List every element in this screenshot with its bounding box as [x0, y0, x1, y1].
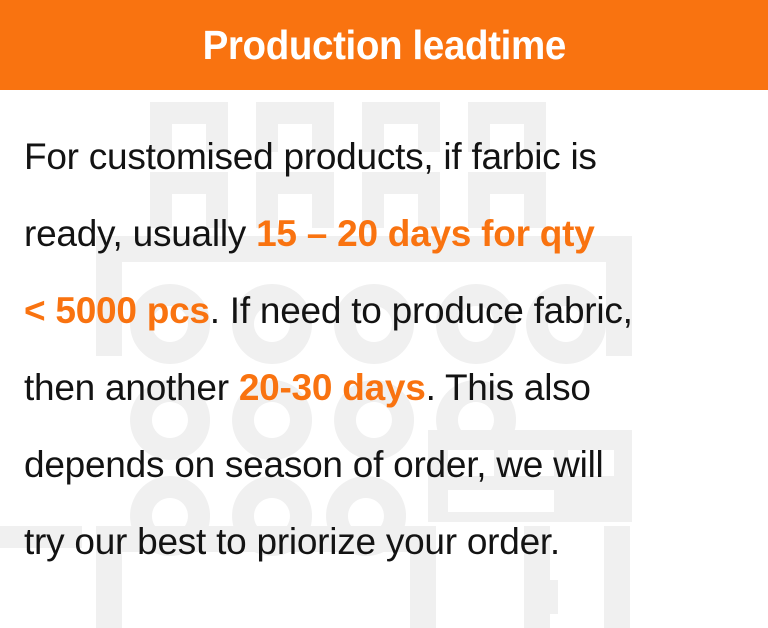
copy-run: try our best to priorize your order.	[24, 521, 560, 562]
copy-run: . This also	[426, 367, 591, 408]
highlighted-leadtime-run: 15 – 20 days for qty	[256, 213, 594, 254]
body-paragraph: For customised products, if farbic is re…	[24, 118, 748, 580]
copy-run: . If need to produce fabric,	[210, 290, 633, 331]
copy-line: then another 20-30 days. This also	[24, 349, 748, 426]
copy-run: then another	[24, 367, 239, 408]
leadtime-info-card: Production leadtime	[0, 0, 768, 628]
copy-line: depends on season of order, we will	[24, 426, 748, 503]
header-banner: Production leadtime	[0, 0, 768, 90]
page-title: Production leadtime	[202, 25, 565, 66]
highlighted-quantity-run: < 5000 pcs	[24, 290, 210, 331]
copy-line: For customised products, if farbic is	[24, 118, 748, 195]
highlighted-fabric-leadtime-run: 20-30 days	[239, 367, 426, 408]
copy-run: depends on season of order, we will	[24, 444, 604, 485]
copy-line: ready, usually 15 – 20 days for qty	[24, 195, 748, 272]
copy-run: For customised products, if farbic is	[24, 136, 597, 177]
copy-line: < 5000 pcs. If need to produce fabric,	[24, 272, 748, 349]
copy-run: ready, usually	[24, 213, 256, 254]
copy-line: try our best to priorize your order.	[24, 503, 748, 580]
